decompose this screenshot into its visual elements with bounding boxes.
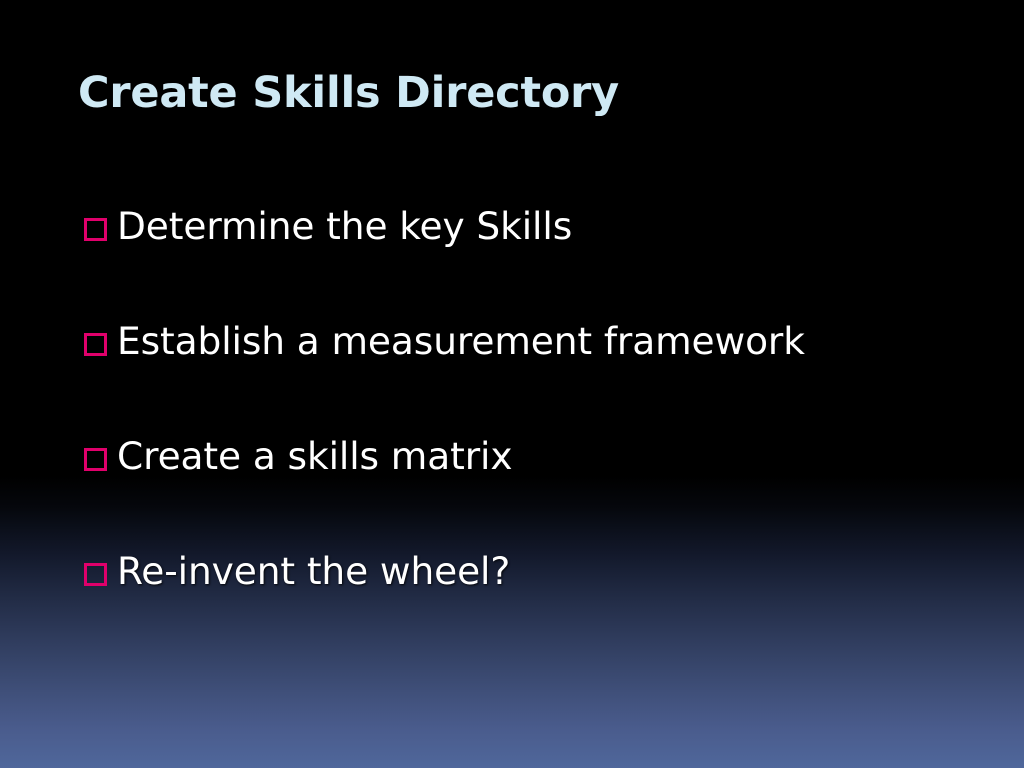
hollow-square-bullet-icon — [84, 448, 107, 471]
presentation-slide: Create Skills Directory Determine the ke… — [0, 0, 1024, 768]
bullet-list: Determine the key Skills Establish a mea… — [84, 204, 984, 664]
list-item: Determine the key Skills — [84, 204, 984, 319]
list-item: Re-invent the wheel? — [84, 549, 984, 664]
hollow-square-bullet-icon — [84, 218, 107, 241]
bullet-item-label: Determine the key Skills — [117, 204, 984, 248]
bullet-item-label: Create a skills matrix — [117, 434, 984, 478]
hollow-square-bullet-icon — [84, 333, 107, 356]
hollow-square-bullet-icon — [84, 563, 107, 586]
list-item: Establish a measurement framework — [84, 319, 984, 434]
slide-content: Create Skills Directory Determine the ke… — [0, 0, 1024, 768]
list-item: Create a skills matrix — [84, 434, 984, 549]
bullet-item-label: Re-invent the wheel? — [117, 549, 984, 593]
slide-title: Create Skills Directory — [78, 69, 958, 117]
bullet-item-label: Establish a measurement framework — [117, 319, 984, 363]
